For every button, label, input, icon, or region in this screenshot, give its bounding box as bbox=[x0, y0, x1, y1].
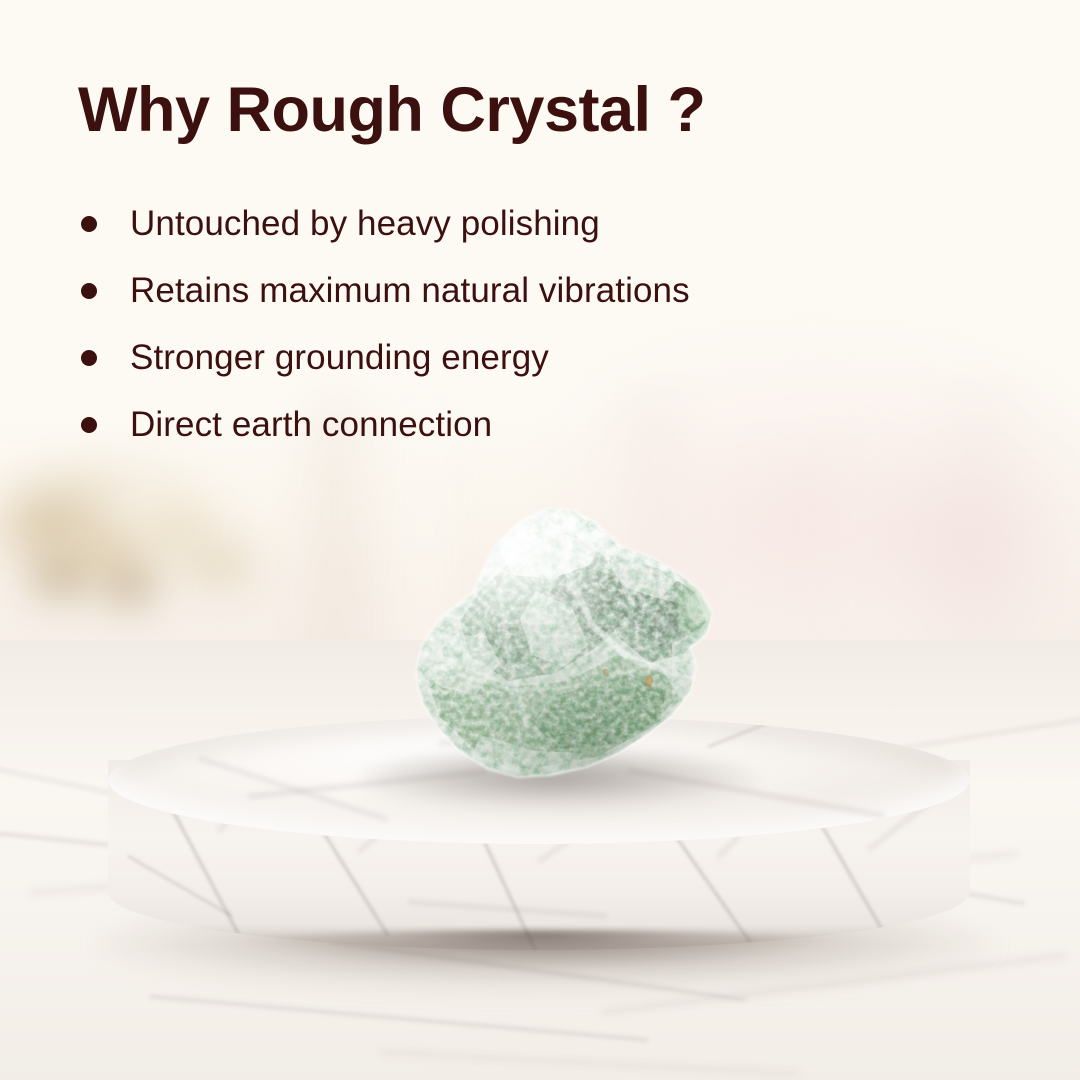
bullet-dot-icon bbox=[81, 417, 97, 433]
product-photo bbox=[0, 0, 1080, 1080]
list-item: Stronger grounding energy bbox=[78, 324, 958, 391]
list-item-label: Retains maximum natural vibrations bbox=[130, 271, 690, 311]
bullet-dot-icon bbox=[81, 350, 97, 366]
list-item-label: Direct earth connection bbox=[130, 405, 492, 445]
bullet-dot-icon bbox=[81, 216, 97, 232]
benefits-list: Untouched by heavy polishing Retains max… bbox=[78, 190, 958, 458]
rough-crystal bbox=[360, 495, 740, 795]
page-title: Why Rough Crystal ? bbox=[78, 77, 706, 143]
dried-flower-bokeh bbox=[90, 552, 170, 622]
list-item: Retains maximum natural vibrations bbox=[78, 257, 958, 324]
rough-crystal-svg bbox=[360, 495, 740, 795]
pedestal-contact-line bbox=[120, 930, 960, 982]
dried-flower-bokeh bbox=[165, 525, 275, 605]
list-item-label: Stronger grounding energy bbox=[130, 338, 549, 378]
promo-card: Why Rough Crystal ? Untouched by heavy p… bbox=[0, 0, 1080, 1080]
list-item: Direct earth connection bbox=[78, 391, 958, 458]
list-item-label: Untouched by heavy polishing bbox=[130, 204, 600, 244]
list-item: Untouched by heavy polishing bbox=[78, 190, 958, 257]
bullet-dot-icon bbox=[81, 283, 97, 299]
